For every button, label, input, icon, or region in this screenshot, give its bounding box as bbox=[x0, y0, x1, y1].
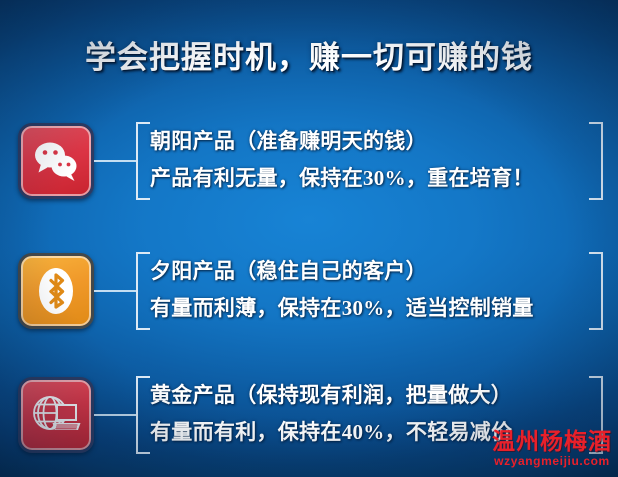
bracket-left bbox=[136, 376, 150, 454]
row-text: 朝阳产品（准备赚明天的钱） 产品有利无量，保持在30%，重在培育！ bbox=[150, 123, 586, 197]
row-line-2: 产品有利无量，保持在30%，重在培育！ bbox=[150, 160, 586, 197]
wechat-icon bbox=[18, 123, 94, 199]
content-row: 夕阳产品（稳住自己的客户） 有量而利薄，保持在30%，适当控制销量 bbox=[0, 248, 618, 338]
connector-line bbox=[94, 290, 138, 292]
bracket-right bbox=[589, 122, 603, 200]
bluetooth-icon bbox=[18, 253, 94, 329]
connector-line bbox=[94, 160, 138, 162]
row-line-1: 黄金产品（保持现有利润，把量做大） bbox=[150, 377, 586, 414]
page-title: 学会把握时机，赚一切可赚的钱 bbox=[0, 38, 618, 78]
bracket-left bbox=[136, 122, 150, 200]
bracket-right bbox=[589, 252, 603, 330]
globe-laptop-icon bbox=[18, 377, 94, 453]
content-row: 黄金产品（保持现有利润，把量做大） 有量而有利，保持在40%，不轻易减价 bbox=[0, 372, 618, 462]
row-line-1: 朝阳产品（准备赚明天的钱） bbox=[150, 123, 586, 160]
row-line-1: 夕阳产品（稳住自己的客户） bbox=[150, 253, 586, 290]
row-line-2: 有量而有利，保持在40%，不轻易减价 bbox=[150, 414, 586, 451]
content-row: 朝阳产品（准备赚明天的钱） 产品有利无量，保持在30%，重在培育！ bbox=[0, 118, 618, 208]
row-line-2: 有量而利薄，保持在30%，适当控制销量 bbox=[150, 290, 586, 327]
bracket-left bbox=[136, 252, 150, 330]
row-text: 黄金产品（保持现有利润，把量做大） 有量而有利，保持在40%，不轻易减价 bbox=[150, 377, 586, 451]
row-text: 夕阳产品（稳住自己的客户） 有量而利薄，保持在30%，适当控制销量 bbox=[150, 253, 586, 327]
slide-canvas: 学会把握时机，赚一切可赚的钱 朝阳产品（准备赚明天的钱） 产品有利无量，保持在3… bbox=[0, 0, 618, 477]
connector-line bbox=[94, 414, 138, 416]
bracket-right bbox=[589, 376, 603, 454]
